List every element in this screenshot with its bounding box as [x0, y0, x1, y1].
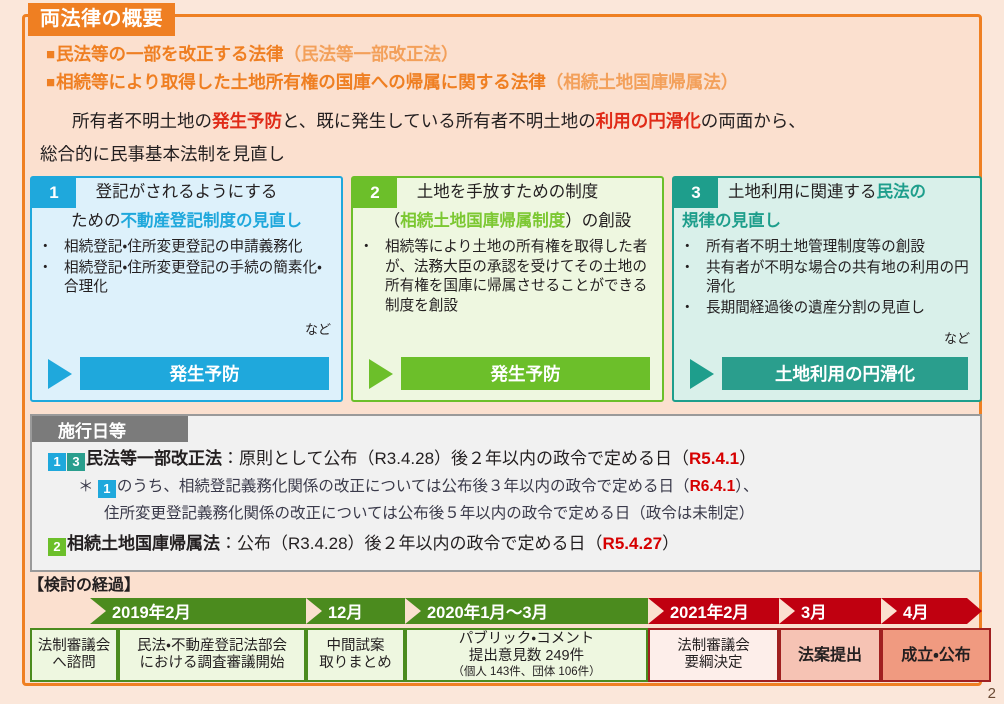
concept-2-number: 2 [353, 178, 397, 208]
overview-line-2: 総合的に民事基本法制を見直し [40, 146, 285, 164]
law-bullet-1-bold: 民法等の一部を改正する法律 [56, 44, 284, 64]
law-bullet-2-paren: （相続土地国庫帰属法） [546, 72, 739, 92]
bullet-dot-icon: ・ [38, 238, 53, 258]
overview-highlight-utilization: 利用の円滑化 [596, 111, 701, 131]
enforcement-line-2: ＊ 1のうち、相続登記義務化関係の改正については公布後３年以内の政令で定める日（… [78, 479, 759, 498]
timeline-cell-2-line2: における調査審議開始 [140, 655, 285, 672]
concept-1-item-2: 相続登記・住所変更登記の手続の簡素化・合理化 [48, 259, 333, 298]
badge-2: 2 [48, 538, 66, 556]
bullet-square-icon: ■ [46, 46, 55, 63]
timeline-segment-5: 3月 [779, 598, 881, 624]
concept-2-list: ・相続等により土地の所有権を取得した者が、法務大臣の承認を受けてその土地の所有権… [353, 238, 662, 317]
enforcement-line-3: 住所変更登記義務化関係の改正については公布後５年以内の政令で定める日（政令は未制… [104, 506, 754, 522]
enforcement-line-4-date: R5.4.27 [603, 534, 663, 553]
timeline-cell-1: 法制審議会 へ諮問 [30, 628, 118, 682]
overview-highlight-prevention: 発生予防 [212, 111, 282, 131]
enforcement-line-4: 2相続土地国庫帰属法：公布（R3.4.28）後２年以内の政令で定める日（R5.4… [48, 535, 679, 556]
timeline-cell-2-line1: 民法・不動産登記法部会 [137, 638, 287, 655]
enforcement-line-2-text-b: ）、 [735, 478, 758, 495]
law-bullet-1-paren: （民法等一部改正法） [284, 44, 459, 64]
timeline-cells: 法制審議会 へ諮問 民法・不動産登記法部会 における調査審議開始 中間試案 取り… [30, 628, 982, 682]
concept-1-head2-bold: 不動産登記制度の見直し [121, 212, 303, 230]
concept-2-item-1: 相続等により土地の所有権を取得した者が、法務大臣の承認を受けてその土地の所有権を… [369, 238, 654, 316]
overview-text-c: の両面から、 [701, 111, 806, 131]
timeline-cell-3-line2: 取りまとめ [319, 655, 392, 672]
timeline-arrows: 2019年2月 12月 2020年1月～3月 2021年2月 3月 4月 [30, 598, 982, 624]
overview-text-a: 所有者不明土地の [72, 111, 212, 131]
concept-3-item-2: 共有者が不明な場合の共有地の利用の円滑化 [690, 259, 972, 298]
concept-1-number: 1 [32, 178, 76, 208]
list-item: ・長期間経過後の遺産分割の見直し [680, 299, 972, 319]
play-triangle-icon [690, 359, 714, 389]
enforcement-line-4-law: 相続土地国庫帰属法 [67, 534, 220, 553]
timeline-segment-4-label: 2021年2月 [648, 599, 749, 623]
concept-1-list: ・相続登記・住所変更登記の申請義務化 ・相続登記・住所変更登記の手続の簡素化・合… [32, 238, 341, 299]
concept-1-head-line1: 登記がされるようにする [32, 178, 341, 207]
concept-3-head1-plain: 土地利用に関連する [728, 183, 877, 201]
badge-1: 1 [48, 453, 66, 471]
bullet-square-icon: ■ [46, 74, 55, 91]
timeline-cell-4-line1: パブリック・コメント [459, 631, 594, 648]
timeline-segment-3-label: 2020年1月～3月 [405, 599, 548, 623]
concept-3-number: 3 [674, 178, 718, 208]
page-title: 両法律の概要 [28, 3, 175, 36]
concept-3-head-line2: 規律の見直し [674, 207, 988, 235]
concept-2-head2-bold: 相続土地国庫帰属制度 [400, 212, 565, 230]
concept-2-head-line2: （相続土地国庫帰属制度）の創設 [353, 207, 662, 235]
concept-1-nado: など [305, 319, 331, 338]
concept-1-tag: 発生予防 [80, 357, 329, 390]
concept-3-tag-row: 土地利用の円滑化 [674, 357, 980, 390]
concept-2-head2-plain: （ [384, 212, 401, 230]
badge-1: 1 [98, 480, 116, 498]
concept-1-item-1: 相続登記・住所変更登記の申請義務化 [48, 238, 302, 258]
timeline-segment-6: 4月 [881, 598, 967, 624]
timeline-cell-1-line1: 法制審議会 [38, 638, 111, 655]
bullet-dot-icon: ・ [680, 259, 695, 279]
concept-1-tag-row: 発生予防 [32, 357, 341, 390]
concept-3-item-1: 所有者不明土地管理制度等の創設 [690, 238, 925, 258]
enforcement-line-2-date: R6.4.1 [690, 478, 736, 495]
law-bullet-2: ■相続等により取得した土地所有権の国庫への帰属に関する法律（相続土地国庫帰属法） [46, 74, 738, 92]
concept-3-head-line1: 土地利用に関連する民法の [674, 178, 980, 207]
list-item: ・所有者不明土地管理制度等の創設 [680, 238, 972, 258]
list-item: ・相続登記・住所変更登記の手続の簡素化・合理化 [38, 259, 333, 298]
bullet-dot-icon: ・ [680, 238, 695, 258]
enforcement-line-4-text-a: ：公布（R3.4.28）後２年以内の政令で定める日（ [220, 534, 603, 553]
list-item: ・共有者が不明な場合の共有地の利用の円滑化 [680, 259, 972, 298]
timeline-cell-4-line2: 提出意見数 249件 [469, 648, 584, 665]
timeline-cell-3: 中間試案 取りまとめ [306, 628, 405, 682]
play-triangle-icon [369, 359, 393, 389]
timeline-segment-2-label: 12月 [306, 599, 363, 623]
page-number: 2 [988, 685, 996, 702]
concept-3-item-3: 長期間経過後の遺産分割の見直し [690, 299, 925, 319]
play-triangle-icon [48, 359, 72, 389]
concept-box-1: 登記がされるようにする 1 ための不動産登記制度の見直し ・相続登記・住所変更登… [30, 176, 343, 402]
timeline-segment-2: 12月 [306, 598, 405, 624]
enforcement-line-1-law: 民法等一部改正法 [86, 449, 222, 468]
concept-3-head2-bold: 規律の見直し [682, 212, 781, 230]
law-bullet-2-bold: 相続等により取得した土地所有権の国庫への帰属に関する法律 [56, 72, 546, 92]
enforcement-line-4-text-b: ） [662, 534, 679, 553]
concept-1-head-line2: ための不動産登記制度の見直し [32, 207, 341, 235]
concept-1-head2-plain: ための [71, 212, 121, 230]
timeline-cell-1-line2: へ諮問 [52, 655, 96, 672]
timeline-segment-4: 2021年2月 [648, 598, 779, 624]
enforcement-line-1-text-b: ） [739, 449, 756, 468]
concept-2-tag-row: 発生予防 [353, 357, 662, 390]
concept-box-3: 土地利用に関連する民法の 3 規律の見直し ・所有者不明土地管理制度等の創設 ・… [672, 176, 982, 402]
slide-root: 両法律の概要 ■民法等の一部を改正する法律（民法等一部改正法） ■相続等により取… [0, 0, 1004, 704]
enforcement-line-2-star: ＊ [78, 478, 94, 495]
enforcement-line-1: 13民法等一部改正法：原則として公布（R3.4.28）後２年以内の政令で定める日… [48, 450, 756, 471]
timeline-cell-4: パブリック・コメント 提出意見数 249件 （個人 143件、団体 106件） [405, 628, 648, 682]
bullet-dot-icon: ・ [359, 238, 374, 258]
law-bullet-1: ■民法等の一部を改正する法律（民法等一部改正法） [46, 46, 459, 64]
timeline-cell-2: 民法・不動産登記法部会 における調査審議開始 [118, 628, 306, 682]
list-item: ・相続登記・住所変更登記の申請義務化 [38, 238, 333, 258]
enforcement-line-1-date: R5.4.1 [689, 449, 739, 468]
overview-line-1: 所有者不明土地の発生予防と、既に発生している所有者不明土地の利用の円滑化の両面か… [72, 113, 806, 131]
timeline-cell-5-line2: 要綱決定 [685, 655, 743, 672]
enforcement-line-1-text-a: ：原則として公布（R3.4.28）後２年以内の政令で定める日（ [222, 449, 689, 468]
timeline-cell-5: 法制審議会 要綱決定 [648, 628, 779, 682]
concept-box-2: 土地を手放すための制度 2 （相続土地国庫帰属制度）の創設 ・相続等により土地の… [351, 176, 664, 402]
concept-3-head1-bold: 民法の [877, 183, 927, 201]
enforcement-panel: 施行日等 13民法等一部改正法：原則として公布（R3.4.28）後２年以内の政令… [30, 414, 982, 572]
timeline-cell-3-line1: 中間試案 [327, 638, 385, 655]
badge-3: 3 [67, 453, 85, 471]
timeline-segment-1: 2019年2月 [90, 598, 306, 624]
timeline-cell-7: 成立・公布 [881, 628, 991, 682]
bullet-dot-icon: ・ [38, 259, 53, 279]
concept-2-tag: 発生予防 [401, 357, 650, 390]
timeline-segment-1-label: 2019年2月 [90, 599, 191, 623]
concept-3-nado: など [944, 328, 970, 347]
timeline-segment-5-label: 3月 [779, 599, 827, 623]
timeline-cell-6: 法案提出 [779, 628, 881, 682]
enforcement-tab-label: 施行日等 [32, 416, 188, 442]
timeline-cell-6-line1: 法案提出 [798, 647, 862, 664]
arrow-head-icon [967, 598, 982, 624]
bullet-dot-icon: ・ [680, 299, 695, 319]
concept-2-head-line1: 土地を手放すための制度 [353, 178, 662, 207]
enforcement-line-2-text-a: のうち、相続登記義務化関係の改正については公布後３年以内の政令で定める日（ [117, 478, 690, 495]
timeline-cell-5-line1: 法制審議会 [677, 638, 750, 655]
timeline-segment-6-label: 4月 [881, 599, 929, 623]
overview-text-b: と、既に発生している所有者不明土地の [282, 111, 596, 131]
timeline-segment-3: 2020年1月～3月 [405, 598, 648, 624]
concept-3-tag: 土地利用の円滑化 [722, 357, 968, 390]
list-item: ・相続等により土地の所有権を取得した者が、法務大臣の承認を受けてその土地の所有権… [359, 238, 654, 316]
concept-3-list: ・所有者不明土地管理制度等の創設 ・共有者が不明な場合の共有地の利用の円滑化 ・… [674, 238, 980, 319]
timeline-cell-4-note: （個人 143件、団体 106件） [452, 665, 600, 679]
timeline-heading: 【検討の経過】 [28, 578, 140, 594]
concept-2-head2-tail: ）の創設 [565, 212, 631, 230]
timeline-cell-7-line1: 成立・公布 [901, 647, 970, 664]
